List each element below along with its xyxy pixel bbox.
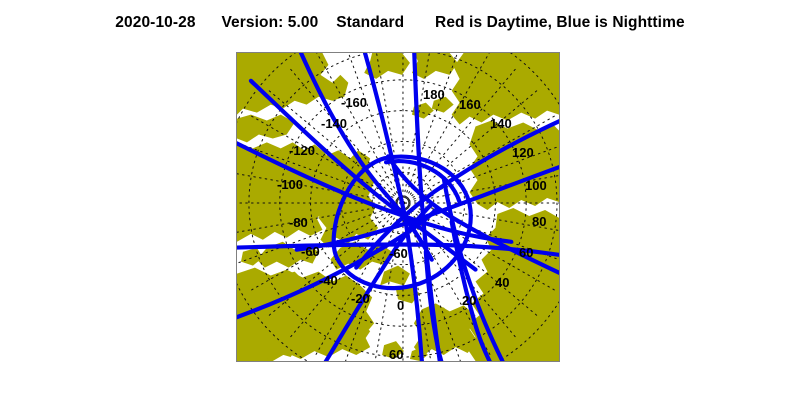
title-legend: Red is Daytime, Blue is Nighttime <box>435 14 685 32</box>
map-canvas <box>237 53 559 361</box>
title-standard: Standard <box>336 14 404 32</box>
page-title: 2020-10-28 Version: 5.00 Standard Red is… <box>0 14 800 32</box>
polar-map[interactable]: 180 -160 160 -140 140 -120 120 -100 100 … <box>236 52 560 362</box>
land-canada-arctic <box>237 142 332 241</box>
screenshot-root: 2020-10-28 Version: 5.00 Standard Red is… <box>0 0 800 400</box>
title-version: Version: 5.00 <box>221 14 318 32</box>
title-date: 2020-10-28 <box>115 14 195 32</box>
